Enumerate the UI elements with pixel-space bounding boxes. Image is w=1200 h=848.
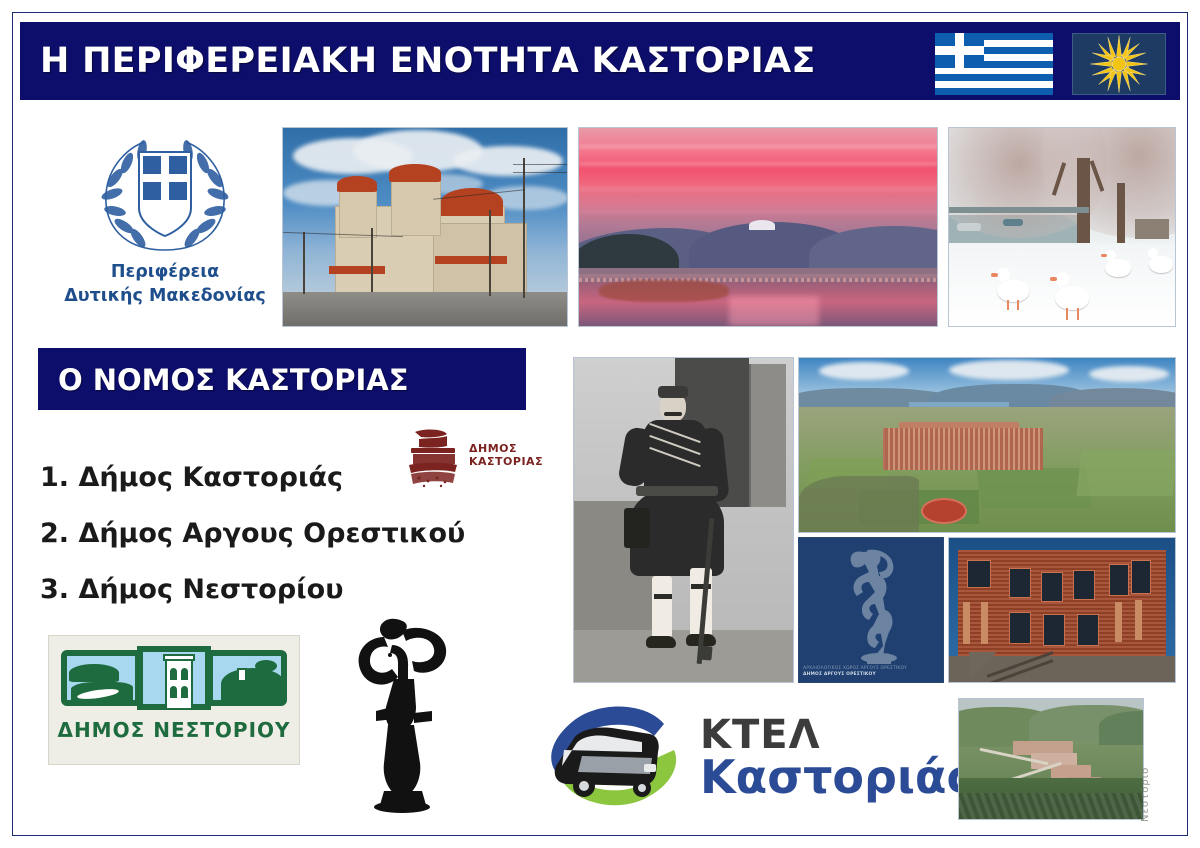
photo-mansion — [948, 537, 1176, 683]
nestorio-logo-panels — [61, 646, 287, 712]
list-item: 3. Δήμος Νεστορίου — [40, 562, 540, 618]
region-logo: Περιφέρεια Δυτικής Μακεδονίας — [60, 132, 270, 317]
region-line-2: Δυτικής Μακεδονίας — [60, 284, 270, 308]
photo-aerial — [798, 357, 1176, 533]
photo-sunset — [578, 127, 938, 327]
list-item: 2. Δήμος Αργους Ορεστικού — [40, 506, 540, 562]
photo-geese — [948, 127, 1176, 327]
nestorio-logo-text: ΔΗΜΟΣ ΝΕΣΤΟΡΙΟΥ — [49, 718, 299, 742]
bus-circle-icon — [538, 700, 698, 812]
ktel-kastorias-logo: ΚΤΕΛ Καστοριάς — [538, 700, 948, 812]
argos-logo-caption-main: ΔΗΜΟΣ ΑΡΓΟΥΣ ΟΡΕΣΤΙΚΟΥ — [803, 672, 907, 678]
watermark-text: Νεστόριο — [1140, 697, 1158, 822]
photo-church — [282, 127, 568, 327]
nestorio-municipality-logo: ΔΗΜΟΣ ΝΕΣΤΟΡΙΟΥ — [48, 635, 300, 765]
ancient-vase-icon — [823, 548, 919, 666]
kastoria-logo-line-2: ΚΑΣΤΟΡΙΑΣ — [469, 455, 543, 468]
vergina-sun-icon — [1088, 33, 1150, 95]
page-title: Η ΠΕΡΙΦΕΡΕΙΑΚΗ ΕΝΟΤΗΤΑ ΚΑΣΤΟΡΙΑΣ — [40, 36, 910, 88]
kastoria-municipality-logo: ΔΗΜΟΣ ΚΑΣΤΟΡΙΑΣ — [395, 428, 547, 494]
region-logo-text: Περιφέρεια Δυτικής Μακεδονίας — [60, 260, 270, 308]
greek-flag-icon — [935, 33, 1053, 95]
argos-orestiko-logo: ΑΡΧΑΙΟΛΟΓΙΚΟΣ ΧΩΡΟΣ ΑΡΓΟΥΣ ΟΡΕΣΤΙΚΟΥ ΔΗΜ… — [798, 537, 944, 683]
photo-village — [958, 698, 1144, 820]
photo-fighter — [573, 357, 794, 683]
slide-root: Η ΠΕΡΙΦΕΡΕΙΑΚΗ ΕΝΟΤΗΤΑ ΚΑΣΤΟΡΙΑΣ — [0, 0, 1200, 848]
bronze-artifact-illustration — [340, 615, 470, 815]
greek-coat-of-arms-icon — [82, 132, 248, 257]
county-title: Ο ΝΟΜΟΣ ΚΑΣΤΟΡΙΑΣ — [58, 362, 409, 398]
vergina-sun-flag-icon — [1072, 33, 1166, 95]
kastoria-logo-line-1: ΔΗΜΟΣ — [469, 442, 543, 455]
argos-logo-caption: ΑΡΧΑΙΟΛΟΓΙΚΟΣ ΧΩΡΟΣ ΑΡΓΟΥΣ ΟΡΕΣΤΙΚΟΥ ΔΗΜ… — [803, 666, 907, 678]
kastoria-logo-text: ΔΗΜΟΣ ΚΑΣΤΟΡΙΑΣ — [469, 442, 543, 468]
byzantine-ruins-icon — [395, 428, 465, 490]
argos-logo-caption-faint: ΑΡΧΑΙΟΛΟΓΙΚΟΣ ΧΩΡΟΣ ΑΡΓΟΥΣ ΟΡΕΣΤΙΚΟΥ — [803, 666, 907, 672]
region-line-1: Περιφέρεια — [60, 260, 270, 284]
ktel-logo-line-2: Καστοριάς — [700, 752, 974, 802]
